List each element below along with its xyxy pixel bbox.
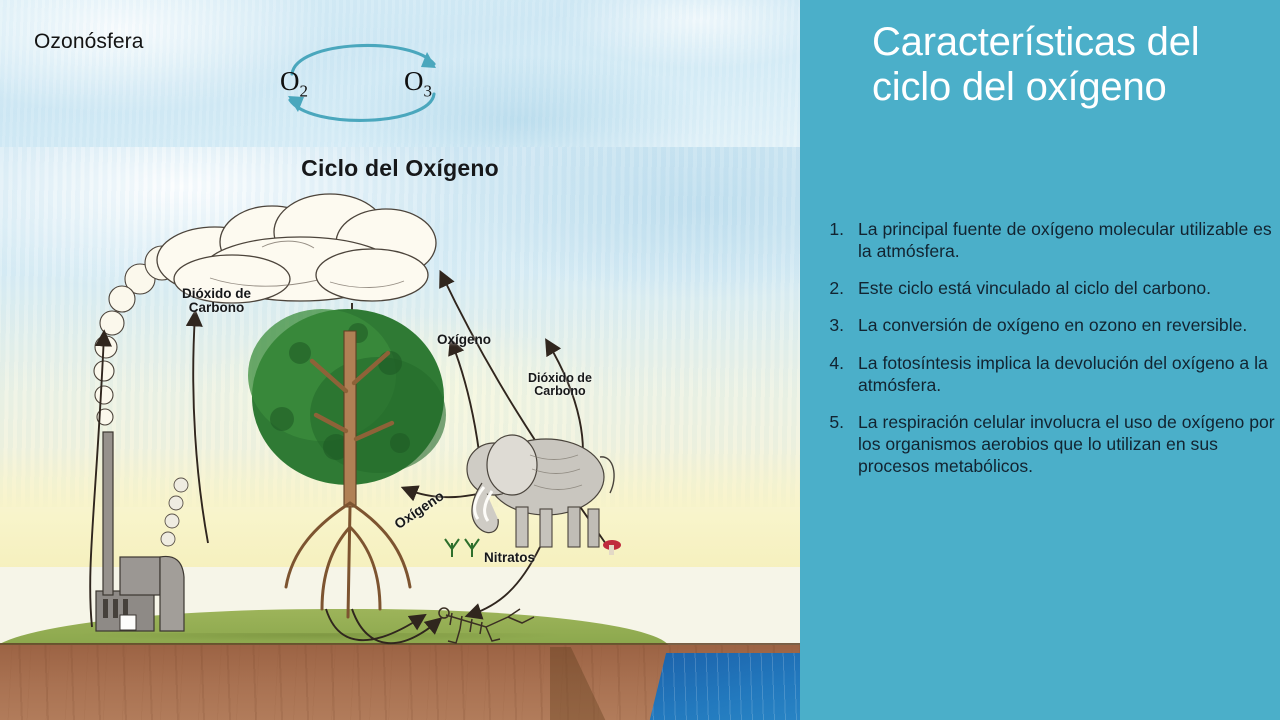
label-carbon-dioxide-left: Dióxido de Carbono (182, 287, 251, 315)
list-item: 4. La fotosíntesis implica la devolución… (812, 352, 1278, 396)
list-item: 3. La conversión de oxígeno en ozono en … (812, 314, 1278, 336)
list-item-text: La principal fuente de oxígeno molecular… (858, 219, 1272, 261)
list-item-number: 1. (812, 218, 844, 240)
factory-secondary-smoke (161, 478, 188, 546)
arrow-co2-to-cloud (193, 315, 208, 543)
illustration-pane: Ozonósfera O2 O3 (0, 0, 800, 720)
list-item: 2. Este ciclo está vinculado al ciclo de… (812, 277, 1278, 299)
o3-molecule-label: O3 (404, 66, 432, 101)
characteristics-list: 1. La principal fuente de oxígeno molecu… (812, 218, 1278, 492)
o3-symbol: O (404, 66, 424, 96)
label-nitrates: Nitratos (484, 551, 535, 565)
o3-subscript: 3 (424, 81, 433, 100)
elephant (467, 435, 614, 547)
list-item-text: La fotosíntesis implica la devolución de… (858, 353, 1268, 395)
list-item-number: 2. (812, 277, 844, 299)
factory-building (96, 432, 184, 631)
panel-title: Características del ciclo del oxígeno (872, 20, 1262, 110)
list-item: 1. La principal fuente de oxígeno molecu… (812, 218, 1278, 262)
illustration-title: Ciclo del Oxígeno (0, 155, 800, 182)
mushroom (603, 540, 621, 555)
label-carbon-dioxide-right: Dióxido de Carbono (528, 372, 592, 398)
arrow-root-nitrate-2 (352, 609, 438, 643)
o2-symbol: O (280, 66, 300, 96)
list-item-text: La respiración celular involucra el uso … (858, 412, 1275, 476)
list-item-number: 3. (812, 314, 844, 336)
arrow-root-nitrate-1 (326, 609, 422, 640)
content-panel: Características del ciclo del oxígeno 1.… (800, 0, 1280, 720)
slide-canvas: Ozonósfera O2 O3 (0, 0, 1280, 720)
ozonosphere-label: Ozonósfera (34, 30, 144, 54)
label-oxygen-tree: Oxígeno (437, 333, 491, 347)
small-plants (445, 539, 479, 557)
list-item-text: La conversión de oxígeno en ozono en rev… (858, 315, 1247, 335)
skeleton (439, 608, 534, 643)
list-item-number: 5. (812, 411, 844, 433)
oxygen-cycle-illustration: Ciclo del Oxígeno Dióxido de Carbono Oxí… (0, 147, 800, 720)
o2-molecule-label: O2 (280, 66, 308, 101)
list-item-number: 4. (812, 352, 844, 374)
ozone-cycle-diagram: O2 O3 (262, 22, 472, 132)
o2-subscript: 2 (300, 81, 309, 100)
tree (248, 309, 446, 617)
list-item: 5. La respiración celular involucra el u… (812, 411, 1278, 477)
list-item-text: Este ciclo está vinculado al ciclo del c… (858, 278, 1211, 298)
illustration-linework (0, 147, 800, 720)
